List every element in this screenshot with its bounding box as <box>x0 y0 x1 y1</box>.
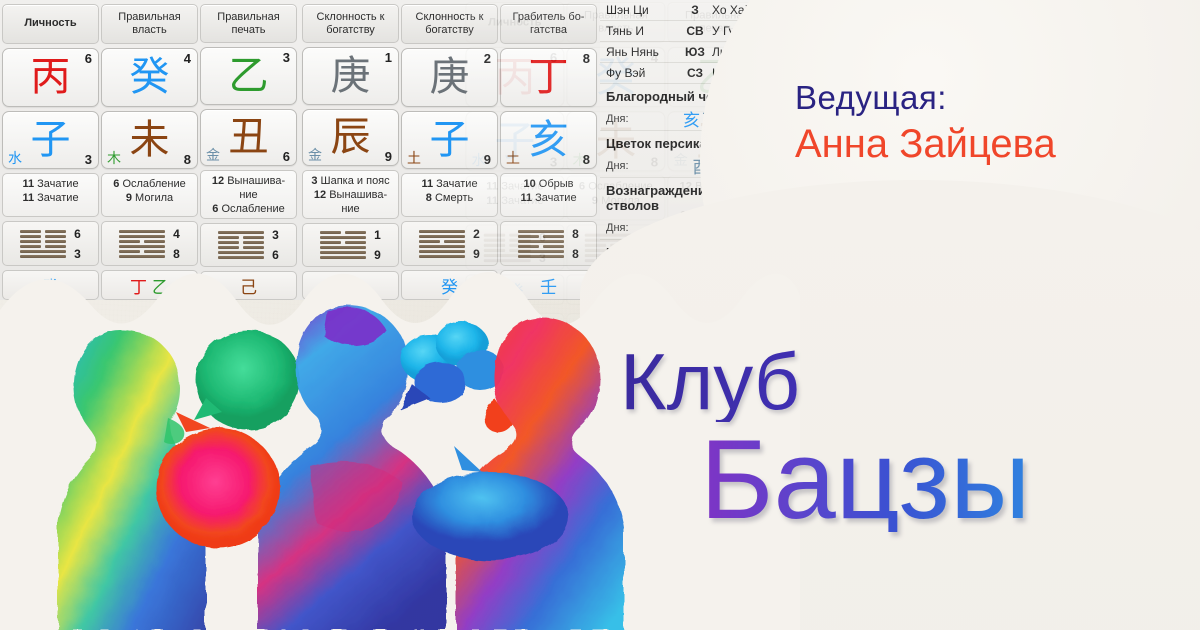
earthly-branch-cell[interactable]: 未木8 <box>101 111 198 170</box>
stem-number: 1 <box>385 50 392 65</box>
hexagram-cell[interactable]: 48 <box>101 221 198 266</box>
branch-element: 金 <box>206 149 220 163</box>
host-credit-block: Ведущая: Анна Зайцева <box>795 78 1195 168</box>
star-name: Фу Вэй <box>606 66 678 80</box>
bazi-chart: Личность丙6子水311 Зачатие11 Зачатие63癸Прав… <box>0 0 600 300</box>
heavenly-stem-cell[interactable]: 丙6 <box>2 48 99 107</box>
heavenly-stem-cell[interactable]: 癸4 <box>101 48 198 107</box>
star-direction: ЮЗ <box>678 45 712 59</box>
bazi-pillar[interactable]: Правильная власть癸4未木86 Ослабление9 Моги… <box>101 2 198 300</box>
branch-number: 6 <box>283 149 290 164</box>
branch-element: 木 <box>107 152 121 166</box>
stem-character: 庚 <box>402 57 497 97</box>
stem-number: 6 <box>85 51 92 66</box>
heavenly-stem-cell[interactable]: 丁8 <box>500 48 597 107</box>
hexagram-cell[interactable]: 19 <box>302 223 399 267</box>
stem-character: 癸 <box>102 57 197 97</box>
day-label: Дня: <box>606 160 640 172</box>
page-title-line1: Клуб <box>608 342 1200 422</box>
pillar-stage-notes: 10 Обрыв11 Зачатие <box>500 173 597 217</box>
hexagram-cell[interactable]: 36 <box>200 223 297 267</box>
hexagram-symbol <box>419 230 465 258</box>
star-name: Шэн Ци <box>606 3 678 17</box>
pillar-group-left: Личность丙6子水311 Зачатие11 Зачатие63癸Прав… <box>2 2 297 300</box>
hexagram-symbol <box>119 230 165 258</box>
branch-element: 水 <box>8 152 22 166</box>
earthly-branch-cell[interactable]: 丑金6 <box>200 109 297 167</box>
pillar-stage-notes: 12 Вынашива-ние6 Ослабление <box>200 170 297 219</box>
heavenly-stem-cell[interactable]: 乙3 <box>200 47 297 105</box>
hexagram-cell[interactable]: 88 <box>500 221 597 266</box>
bazi-pillar[interactable]: Правильная печать乙3丑金612 Вынашива-ние6 О… <box>200 2 297 300</box>
bazi-pillar[interactable]: Склонность к богатству庚2子土911 Зачатие8 С… <box>401 2 498 300</box>
pillar-caption: Личность <box>2 4 99 44</box>
hexagram-numbers: 48 <box>173 227 180 261</box>
pillar-stage-notes: 3 Шапка и пояс12 Вынашива-ние <box>302 170 399 219</box>
pillar-caption: Склонность к богатству <box>401 4 498 44</box>
heavenly-stem-cell[interactable]: 庚1 <box>302 47 399 105</box>
branch-number: 9 <box>385 149 392 164</box>
stem-number: 2 <box>484 51 491 66</box>
earthly-branch-cell[interactable]: 子水3 <box>2 111 99 170</box>
bazi-pillar[interactable]: Склонность к богатству庚1辰金93 Шапка и поя… <box>302 2 399 300</box>
title-block: Клуб Бацзы <box>608 342 1200 532</box>
hexagram-cell[interactable]: 29 <box>401 221 498 266</box>
star-direction: СЗ <box>678 66 712 80</box>
pillar-caption: Правильная печать <box>200 4 297 43</box>
stem-character: 乙 <box>201 56 296 96</box>
day-label: Дня: <box>606 113 640 125</box>
hexagram-symbol <box>320 231 366 259</box>
star-name: Тянь И <box>606 24 678 38</box>
pillar-caption: Склонность к богатству <box>302 4 399 43</box>
thought-cloud-blue <box>400 322 504 410</box>
earthly-branch-cell[interactable]: 亥土8 <box>500 111 597 170</box>
stem-character: 丁 <box>501 57 596 97</box>
hexagram-cell[interactable]: 63 <box>2 221 99 266</box>
branch-number: 8 <box>184 152 191 167</box>
earthly-branch-cell[interactable]: 辰金9 <box>302 109 399 167</box>
branch-number: 3 <box>85 152 92 167</box>
watercolor-people-illustration <box>10 270 650 630</box>
branch-number: 9 <box>484 152 491 167</box>
heavenly-stem-cell[interactable]: 庚2 <box>401 48 498 107</box>
stem-number: 3 <box>283 50 290 65</box>
hexagram-symbol <box>518 230 564 258</box>
hexagram-numbers: 36 <box>272 228 279 262</box>
page-title-line2: Бацзы <box>608 428 1200 532</box>
stem-character: 丙 <box>3 57 98 97</box>
bazi-pillar[interactable]: Личность丙6子水311 Зачатие11 Зачатие63癸 <box>2 2 99 300</box>
speech-bubble-green <box>194 330 300 430</box>
branch-element: 土 <box>506 152 520 166</box>
hexagram-numbers: 63 <box>74 227 81 261</box>
star-direction: СВ <box>678 24 712 38</box>
pillar-caption: Правильная власть <box>101 4 198 44</box>
pillar-group-right: Склонность к богатству庚1辰金93 Шапка и поя… <box>302 2 597 300</box>
stem-character: 庚 <box>303 56 398 96</box>
hexagram-symbol <box>20 230 66 258</box>
stem-number: 8 <box>583 51 590 66</box>
branch-element: 土 <box>407 152 421 166</box>
branch-element: 金 <box>308 149 322 163</box>
hexagram-numbers: 29 <box>473 227 480 261</box>
pillar-stage-notes: 11 Зачатие8 Смерть <box>401 173 498 217</box>
pillar-caption: Грабитель бо-гатства <box>500 4 597 44</box>
earthly-branch-cell[interactable]: 子土9 <box>401 111 498 170</box>
hexagram-numbers: 88 <box>572 227 579 261</box>
bazi-pillar[interactable]: Грабитель бо-гатства丁8亥土810 Обрыв11 Зача… <box>500 2 597 300</box>
pillar-stage-notes: 6 Ослабление9 Могила <box>101 173 198 217</box>
stem-number: 4 <box>184 51 191 66</box>
host-name: Анна Зайцева <box>795 120 1195 168</box>
host-role-label: Ведущая: <box>795 78 1195 118</box>
hexagram-numbers: 19 <box>374 228 381 262</box>
star-direction: З <box>678 3 712 17</box>
hexagram-symbol <box>218 231 264 259</box>
branch-number: 8 <box>583 152 590 167</box>
star-name: Янь Нянь <box>606 45 678 59</box>
pillar-stage-notes: 11 Зачатие11 Зачатие <box>2 173 99 217</box>
